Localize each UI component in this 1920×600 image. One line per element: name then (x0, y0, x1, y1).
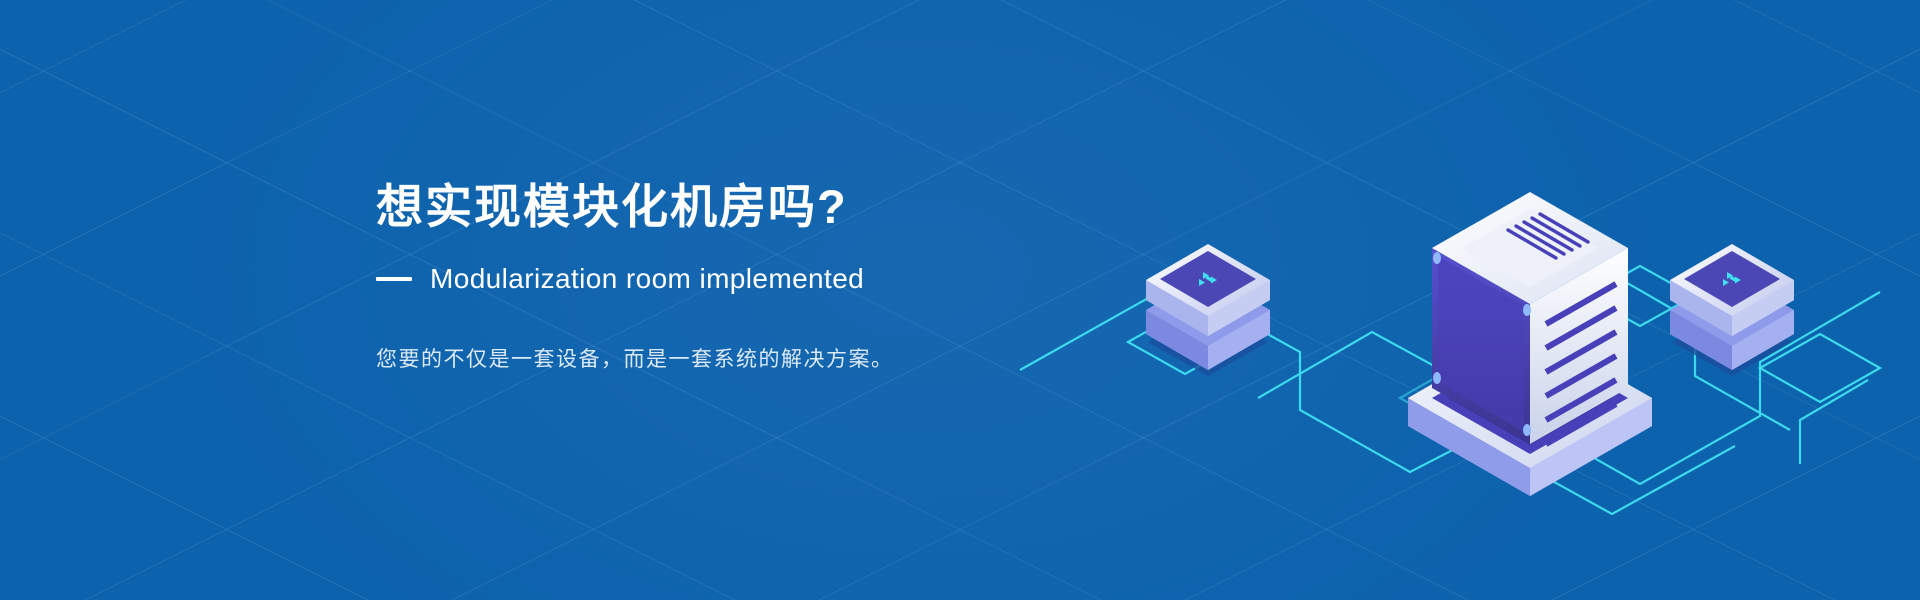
hero-copy-block: 想实现模块化机房吗? Modularization room implement… (376, 178, 1096, 397)
server-rack (1408, 192, 1652, 496)
dash-divider-icon (376, 277, 412, 281)
page-title: 想实现模块化机房吗? (376, 178, 1096, 237)
hero-banner: 想实现模块化机房吗? Modularization room implement… (0, 0, 1920, 600)
hero-subtitle: Modularization room implemented (430, 263, 864, 295)
subtitle-row: Modularization room implemented (376, 263, 1096, 295)
isometric-server-room-illustration (1000, 80, 1900, 560)
hero-body-text: 您要的不仅是一套设备，而是一套系统的解决方案。 (376, 343, 1096, 377)
